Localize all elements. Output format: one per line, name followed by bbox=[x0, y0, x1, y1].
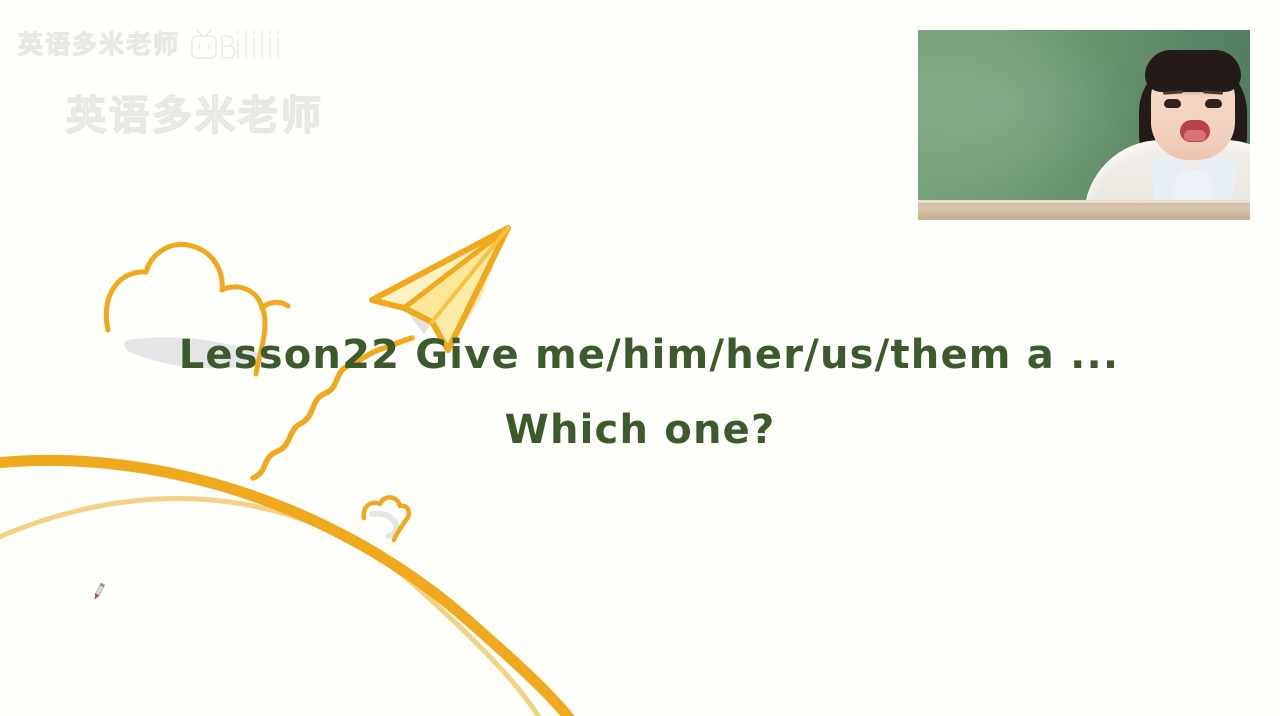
presenter-video-overlay[interactable] bbox=[918, 30, 1250, 220]
small-cloud-squiggle-shadow bbox=[372, 513, 397, 536]
presenter-mouth bbox=[1180, 120, 1210, 142]
lesson-title-line-1: Lesson22 Give me/him/her/us/them a ... bbox=[0, 318, 1280, 393]
chalkboard-ledge bbox=[918, 200, 1250, 220]
lesson-title: Lesson22 Give me/him/her/us/them a ... W… bbox=[0, 318, 1280, 468]
watermark-top-text: 英语多米老师 bbox=[18, 32, 180, 57]
light-yellow-arc bbox=[0, 499, 560, 716]
paper-plane-wing-top bbox=[404, 228, 508, 322]
presenter-eye-left bbox=[1164, 99, 1181, 108]
paper-plane-center-crease bbox=[404, 228, 508, 308]
presenter-eye-right bbox=[1205, 99, 1222, 108]
lesson-slide: 英语多米老师 英语多米老师 Lesson22 Give me/him/her/u… bbox=[0, 0, 1280, 716]
paper-plane-tail-crease bbox=[432, 228, 508, 322]
presenter-hair-fringe bbox=[1145, 50, 1241, 92]
watermark-main-text: 英语多米老师 bbox=[66, 96, 324, 136]
small-cloud-squiggle-icon bbox=[364, 497, 409, 540]
watermark-top: 英语多米老师 bbox=[18, 22, 308, 66]
lesson-title-line-2: Which one? bbox=[0, 393, 1280, 468]
pencil-cursor-icon[interactable] bbox=[88, 580, 110, 602]
paper-plane-wing-left bbox=[372, 228, 508, 308]
presenter-figure bbox=[1078, 70, 1250, 220]
bilibili-logo bbox=[190, 27, 286, 61]
